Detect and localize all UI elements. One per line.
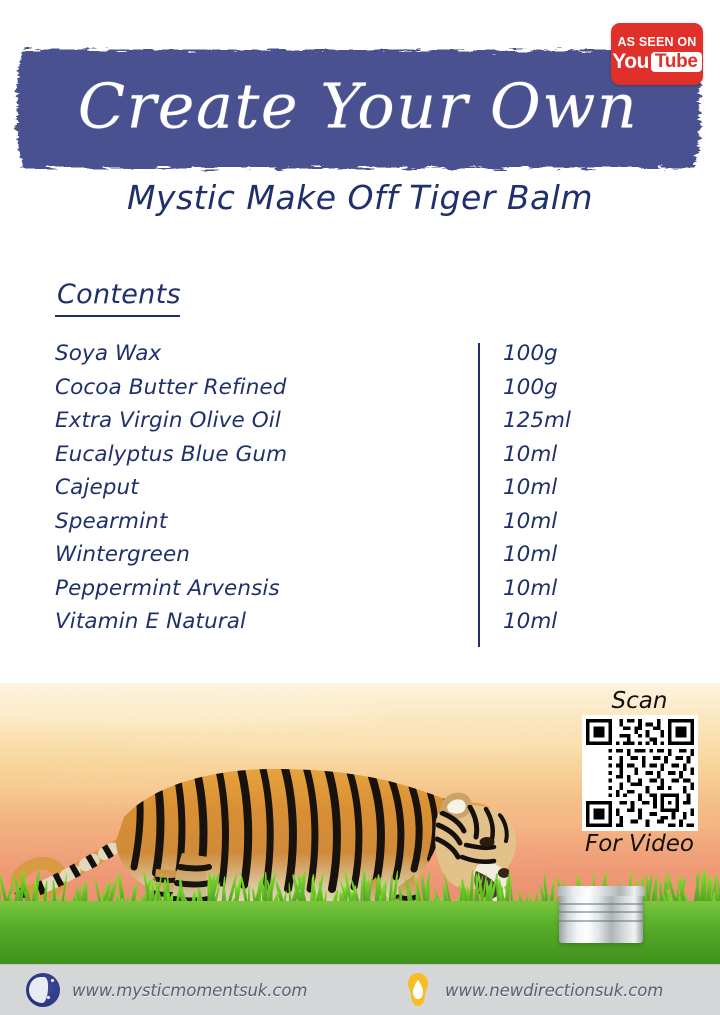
ingredient-amount: 10ml	[503, 576, 557, 601]
ingredient-name: Cocoa Butter Refined	[55, 375, 287, 400]
ingredient-name: Vitamin E Natural	[55, 609, 246, 634]
ingredient-name: Cajeput	[55, 475, 139, 500]
ingredient-name: Eucalyptus Blue Gum	[55, 442, 287, 467]
list-item: Extra Virgin Olive Oil 125ml	[55, 408, 615, 442]
tin-band	[559, 903, 643, 905]
list-item: Cocoa Butter Refined 100g	[55, 375, 615, 409]
list-item: Peppermint Arvensis 10ml	[55, 576, 615, 610]
list-item: Spearmint 10ml	[55, 509, 615, 543]
ingredient-amount: 125ml	[503, 408, 571, 433]
as-seen-on-label: AS SEEN ON	[617, 36, 696, 49]
ingredient-amount: 100g	[503, 341, 558, 366]
qr-code-for-video[interactable]: Scan	[571, 689, 708, 856]
ingredient-amount: 10ml	[503, 475, 557, 500]
ingredients-list: Soya Wax 100g Cocoa Butter Refined 100g …	[55, 341, 615, 643]
as-seen-on-youtube-badge[interactable]: AS SEEN ON You Tube	[611, 23, 703, 85]
tin-band	[559, 911, 643, 913]
footer-bar: www.mysticmomentsuk.com www.newdirection…	[0, 964, 720, 1015]
ingredient-amount: 10ml	[503, 509, 557, 534]
qr-for-video-label: For Video	[571, 832, 708, 856]
tiger-eye	[480, 837, 495, 847]
ingredient-name: Wintergreen	[55, 542, 190, 567]
product-label-page: Create Your Own AS SEEN ON You Tube Myst…	[0, 0, 720, 1015]
header-banner: Create Your Own	[22, 50, 694, 168]
youtube-you-text: You	[612, 51, 649, 72]
page-title: Create Your Own	[22, 70, 694, 143]
qr-scan-label: Scan	[571, 689, 708, 713]
tin-lid	[557, 886, 645, 896]
tiger-sunset-photo: Scan	[0, 683, 720, 965]
balm-tin-product	[559, 891, 643, 943]
ingredient-name: Extra Virgin Olive Oil	[55, 408, 281, 433]
mystic-moments-url[interactable]: www.mysticmomentsuk.com	[72, 981, 307, 1000]
droplet-logo-icon	[403, 971, 433, 1009]
ingredient-name: Peppermint Arvensis	[55, 576, 280, 601]
youtube-logo-icon: You Tube	[612, 51, 701, 72]
mystic-moments-link[interactable]: www.mysticmomentsuk.com	[26, 965, 307, 1015]
ingredient-name: Soya Wax	[55, 341, 161, 366]
ingredient-amount: 10ml	[503, 442, 557, 467]
moon-logo-icon	[26, 973, 60, 1007]
contents-heading: Contents	[57, 279, 181, 310]
new-directions-link[interactable]: www.newdirectionsuk.com	[403, 965, 663, 1015]
contents-heading-underline	[55, 315, 180, 317]
list-item: Soya Wax 100g	[55, 341, 615, 375]
new-directions-url[interactable]: www.newdirectionsuk.com	[445, 981, 663, 1000]
list-item: Wintergreen 10ml	[55, 542, 615, 576]
list-item: Vitamin E Natural 10ml	[55, 609, 615, 643]
product-subtitle: Mystic Make Off Tiger Balm	[0, 178, 720, 217]
ingredient-amount: 10ml	[503, 609, 557, 634]
youtube-tube-text: Tube	[651, 52, 702, 72]
qr-code-image[interactable]	[582, 715, 698, 831]
ingredient-name: Spearmint	[55, 509, 167, 534]
list-item: Eucalyptus Blue Gum 10ml	[55, 442, 615, 476]
tin-band	[559, 920, 643, 922]
ingredient-amount: 100g	[503, 375, 558, 400]
ingredient-amount: 10ml	[503, 542, 557, 567]
list-item: Cajeput 10ml	[55, 475, 615, 509]
